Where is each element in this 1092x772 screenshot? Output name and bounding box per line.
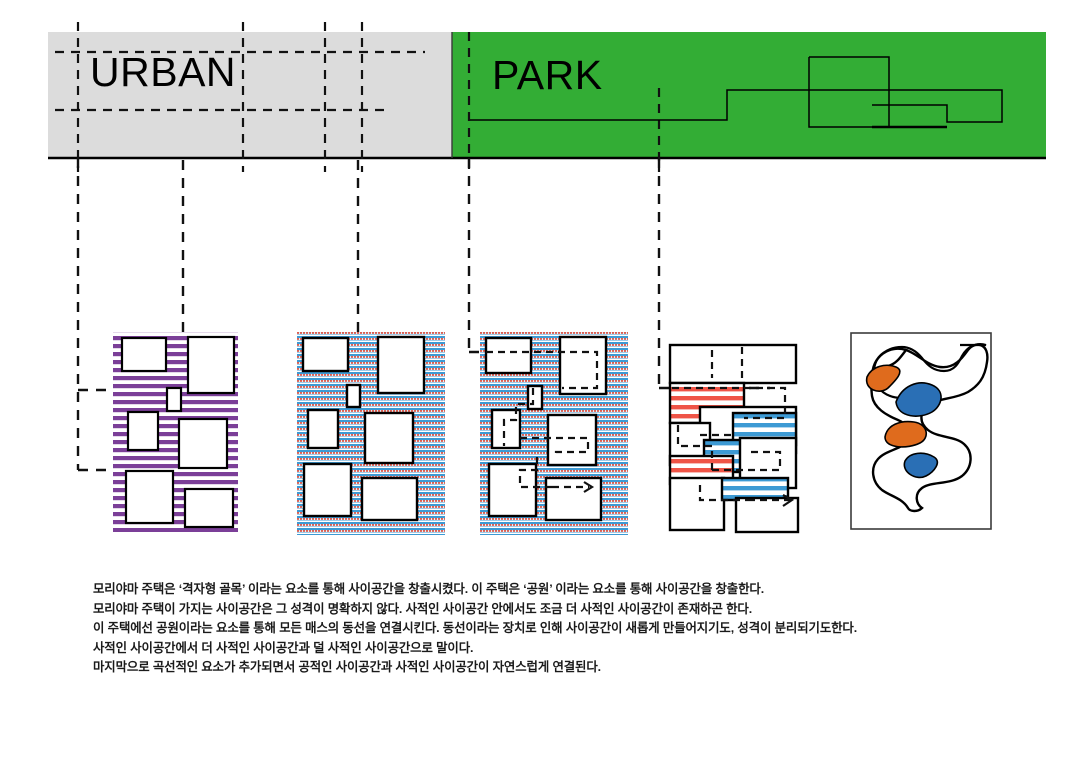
panel-park-hatch [297, 332, 445, 535]
panel-grid-alley [113, 332, 238, 532]
caption-block: 모리야마 주택은 ‘격자형 골목’ 이라는 요소를 통해 사이공간을 창출시켰다… [93, 580, 1053, 678]
panel-circulation [480, 332, 628, 535]
caption-line: 모리야마 주택이 가지는 사이공간은 그 성격이 명확하지 않다. 사적인 사이… [93, 600, 1053, 620]
caption-line: 이 주택에선 공원이라는 요소를 통해 모든 매스의 동선을 연결시킨다. 동선… [93, 619, 1053, 639]
panel-curvilinear [851, 333, 991, 529]
park-label: PARK [492, 55, 603, 96]
caption-line: 모리야마 주택은 ‘격자형 골목’ 이라는 요소를 통해 사이공간을 창출시켰다… [93, 580, 1053, 600]
caption-line: 마지막으로 곡선적인 요소가 추가되면서 공적인 사이공간과 사적인 사이공간이… [93, 658, 1053, 678]
panel-mass-separation [670, 345, 798, 532]
diagram-canvas: URBAN PARK 모리야마 주택은 ‘격자형 골목’ 이라는 요소를 통해 … [0, 0, 1092, 772]
urban-label: URBAN [90, 52, 236, 93]
caption-line: 사적인 사이공간에서 더 사적인 사이공간과 덜 사적인 사이공간으로 말이다. [93, 639, 1053, 659]
